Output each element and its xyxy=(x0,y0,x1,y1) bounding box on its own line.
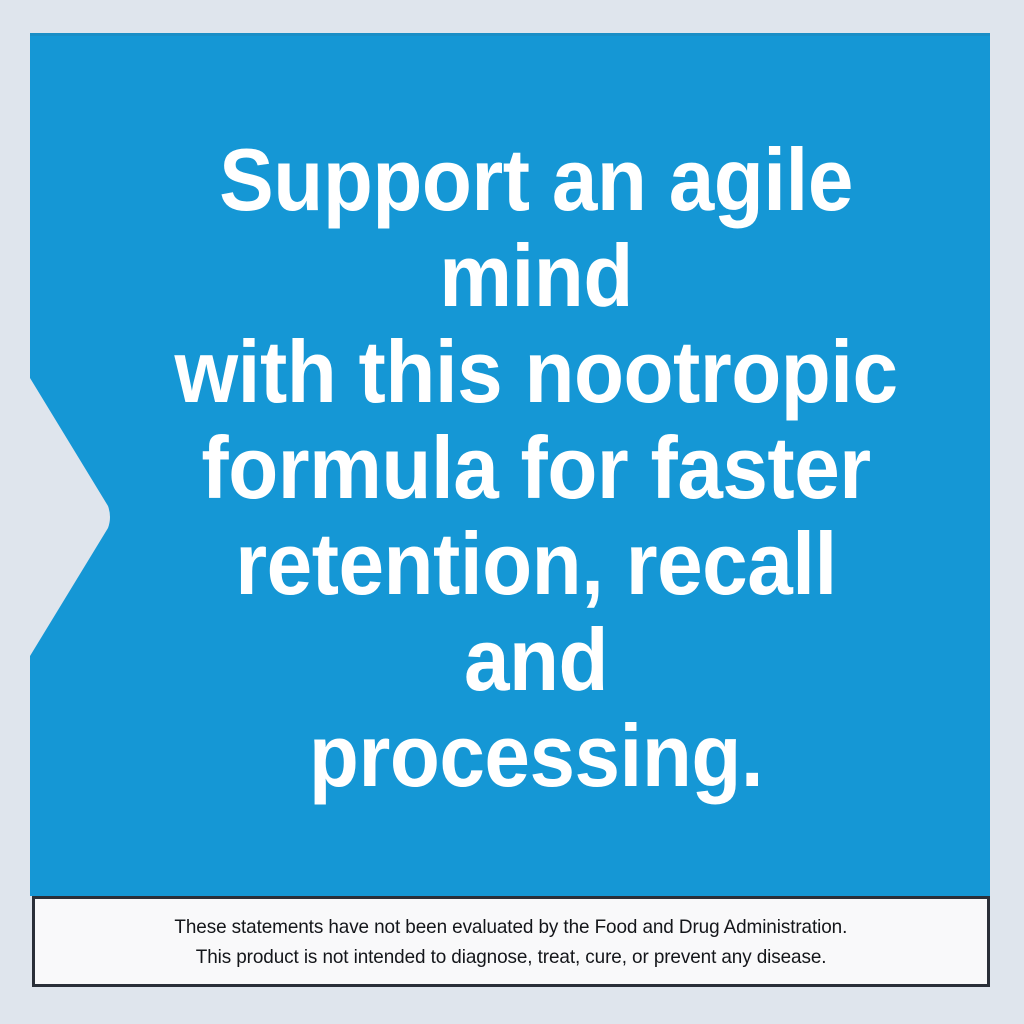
headline-container: Support an agile mind with this nootropi… xyxy=(30,36,990,896)
promo-card: Support an agile mind with this nootropi… xyxy=(0,0,1024,1024)
fda-disclaimer-box: These statements have not been evaluated… xyxy=(32,896,990,987)
disclaimer-line-2: This product is not intended to diagnose… xyxy=(196,942,827,972)
hero-panel: Support an agile mind with this nootropi… xyxy=(30,33,990,896)
headline-text: Support an agile mind with this nootropi… xyxy=(64,132,957,804)
disclaimer-line-1: These statements have not been evaluated… xyxy=(175,912,848,942)
